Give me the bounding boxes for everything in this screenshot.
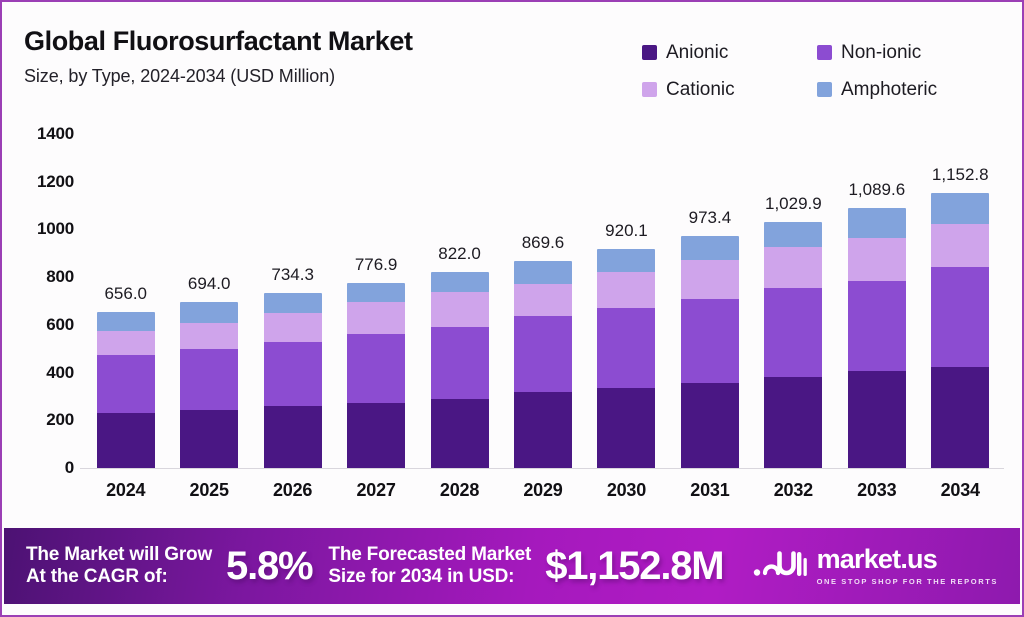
x-axis-tick: 2026 [251,480,334,510]
bar-segment-non-ionic[interactable] [180,349,238,410]
y-axis: 1400120010008006004002000 [2,134,74,468]
bar-total-label: 1,029.9 [752,194,835,214]
bar-segment-non-ionic[interactable] [681,299,739,384]
bar-segment-non-ionic[interactable] [97,355,155,413]
bar-segment-anionic[interactable] [180,410,238,468]
bar-total-label: 869.6 [501,233,584,253]
bar-stack[interactable] [514,261,572,468]
bar-segment-cationic[interactable] [597,272,655,307]
axis-baseline [80,468,1004,469]
bar-segment-anionic[interactable] [431,399,489,468]
bar-segment-non-ionic[interactable] [431,327,489,399]
bar-segment-amphoteric[interactable] [264,293,322,313]
x-axis-tick: 2025 [167,480,250,510]
bar-segment-non-ionic[interactable] [347,334,405,402]
bar-group[interactable]: 734.3 [251,134,334,468]
infographic-root: Global Fluorosurfactant Market Size, by … [0,0,1024,617]
bar-stack[interactable] [681,236,739,468]
bar-segment-anionic[interactable] [597,388,655,468]
legend-item-non-ionic[interactable]: Non-ionic [817,34,992,71]
bar-segment-non-ionic[interactable] [597,308,655,388]
bar-group[interactable]: 822.0 [418,134,501,468]
square-swatch-icon [817,45,832,60]
bar-total-label: 694.0 [167,274,250,294]
bar-segment-anionic[interactable] [848,371,906,468]
bar-stack[interactable] [764,222,822,468]
title-block: Global Fluorosurfactant Market Size, by … [24,26,413,87]
brand-name: market.us [817,546,998,573]
bar-group[interactable]: 920.1 [585,134,668,468]
forecast-value: $1,152.8M [545,544,723,589]
cagr-caption-line2: At the CAGR of: [26,566,212,588]
x-axis-tick: 2024 [84,480,167,510]
page-title: Global Fluorosurfactant Market [24,26,413,57]
bar-stack[interactable] [264,293,322,468]
x-axis-tick: 2032 [752,480,835,510]
legend-item-label: Anionic [666,42,728,64]
forecast-caption: The Forecasted Market Size for 2034 in U… [328,544,531,588]
y-axis-tick: 1200 [37,172,74,192]
x-axis-tick: 2033 [835,480,918,510]
y-axis-tick: 200 [46,410,74,430]
bar-group[interactable]: 656.0 [84,134,167,468]
brand-text: market.us ONE STOP SHOP FOR THE REPORTS [817,546,998,586]
y-axis-tick: 0 [65,458,74,478]
square-swatch-icon [817,82,832,97]
bar-segment-amphoteric[interactable] [97,312,155,332]
bar-group[interactable]: 869.6 [501,134,584,468]
brand-logo[interactable]: market.us ONE STOP SHOP FOR THE REPORTS [753,546,998,586]
bar-segment-amphoteric[interactable] [848,208,906,238]
bar-segment-cationic[interactable] [848,238,906,281]
bar-segment-cationic[interactable] [681,260,739,298]
x-axis: 2024202520262027202820292030203120322033… [84,480,1002,510]
legend-item-amphoteric[interactable]: Amphoteric [817,71,992,108]
bar-segment-cationic[interactable] [764,247,822,288]
cagr-caption: The Market will Grow At the CAGR of: [26,544,212,588]
footer-banner: The Market will Grow At the CAGR of: 5.8… [4,528,1020,604]
x-axis-tick: 2030 [585,480,668,510]
market-us-logo-icon [753,547,807,586]
bar-segment-anionic[interactable] [514,392,572,468]
bar-total-label: 776.9 [334,255,417,275]
bar-segment-anionic[interactable] [681,383,739,468]
legend-item-label: Cationic [666,79,735,101]
bar-group[interactable]: 1,029.9 [752,134,835,468]
bar-segment-cationic[interactable] [180,323,238,349]
chart-plot-area: 1400120010008006004002000 656.0694.0734.… [2,134,1024,520]
y-axis-tick: 1000 [37,219,74,239]
bar-group[interactable]: 1,089.6 [835,134,918,468]
page-subtitle: Size, by Type, 2024-2034 (USD Million) [24,66,413,87]
bar-segment-cationic[interactable] [431,292,489,326]
x-axis-tick: 2031 [668,480,751,510]
bar-group[interactable]: 973.4 [668,134,751,468]
bar-segment-amphoteric[interactable] [347,283,405,303]
bar-segment-anionic[interactable] [347,403,405,469]
bar-total-label: 1,152.8 [919,165,1002,185]
bar-segment-amphoteric[interactable] [681,236,739,260]
x-axis-tick: 2029 [501,480,584,510]
bar-total-label: 1,089.6 [835,180,918,200]
bar-segment-amphoteric[interactable] [597,249,655,273]
bar-total-label: 973.4 [668,208,751,228]
legend-item-cationic[interactable]: Cationic [642,71,817,108]
y-axis-tick: 800 [46,267,74,287]
chart-legend: Anionic Non-ionic Cationic Amphoteric [642,34,992,108]
x-axis-tick: 2028 [418,480,501,510]
bar-segment-non-ionic[interactable] [764,288,822,377]
bar-segment-non-ionic[interactable] [848,281,906,371]
legend-item-label: Non-ionic [841,42,921,64]
header: Global Fluorosurfactant Market Size, by … [24,26,1000,116]
cagr-caption-line1: The Market will Grow [26,544,212,566]
x-axis-tick: 2034 [919,480,1002,510]
cagr-value: 5.8% [226,544,312,589]
bars-area: 656.0694.0734.3776.9822.0869.6920.1973.4… [84,134,1002,468]
legend-item-label: Amphoteric [841,79,937,101]
bar-stack[interactable] [931,193,989,468]
brand-tagline: ONE STOP SHOP FOR THE REPORTS [817,577,998,586]
bar-group[interactable]: 1,152.8 [919,134,1002,468]
y-axis-tick: 1400 [37,124,74,144]
bar-stack[interactable] [597,249,655,468]
bar-segment-amphoteric[interactable] [431,272,489,293]
bar-segment-amphoteric[interactable] [931,193,989,224]
bar-segment-cationic[interactable] [97,331,155,355]
bar-group[interactable]: 776.9 [334,134,417,468]
bar-stack[interactable] [97,312,155,468]
bar-total-label: 822.0 [418,244,501,264]
bar-segment-anionic[interactable] [264,406,322,468]
bar-segment-cationic[interactable] [347,302,405,334]
forecast-caption-line1: The Forecasted Market [328,544,531,566]
bar-segment-cationic[interactable] [264,313,322,342]
bar-segment-amphoteric[interactable] [180,302,238,322]
bar-segment-non-ionic[interactable] [264,342,322,406]
bar-segment-anionic[interactable] [931,367,989,468]
bar-stack[interactable] [848,208,906,468]
y-axis-tick: 600 [46,315,74,335]
bar-total-label: 920.1 [585,221,668,241]
bar-group[interactable]: 694.0 [167,134,250,468]
bar-segment-cationic[interactable] [514,284,572,316]
bar-stack[interactable] [431,272,489,468]
square-swatch-icon [642,82,657,97]
x-axis-tick: 2027 [334,480,417,510]
bar-segment-non-ionic[interactable] [931,267,989,367]
y-axis-tick: 400 [46,363,74,383]
bar-total-label: 734.3 [251,265,334,285]
bar-total-label: 656.0 [84,284,167,304]
bar-segment-amphoteric[interactable] [764,222,822,247]
bar-segment-anionic[interactable] [97,413,155,468]
legend-item-anionic[interactable]: Anionic [642,34,817,71]
bar-segment-anionic[interactable] [764,377,822,468]
bar-segment-amphoteric[interactable] [514,261,572,284]
bar-segment-cationic[interactable] [931,224,989,267]
bar-stack[interactable] [180,302,238,468]
square-swatch-icon [642,45,657,60]
bar-stack[interactable] [347,283,405,468]
bar-segment-non-ionic[interactable] [514,316,572,392]
forecast-caption-line2: Size for 2034 in USD: [328,566,531,588]
